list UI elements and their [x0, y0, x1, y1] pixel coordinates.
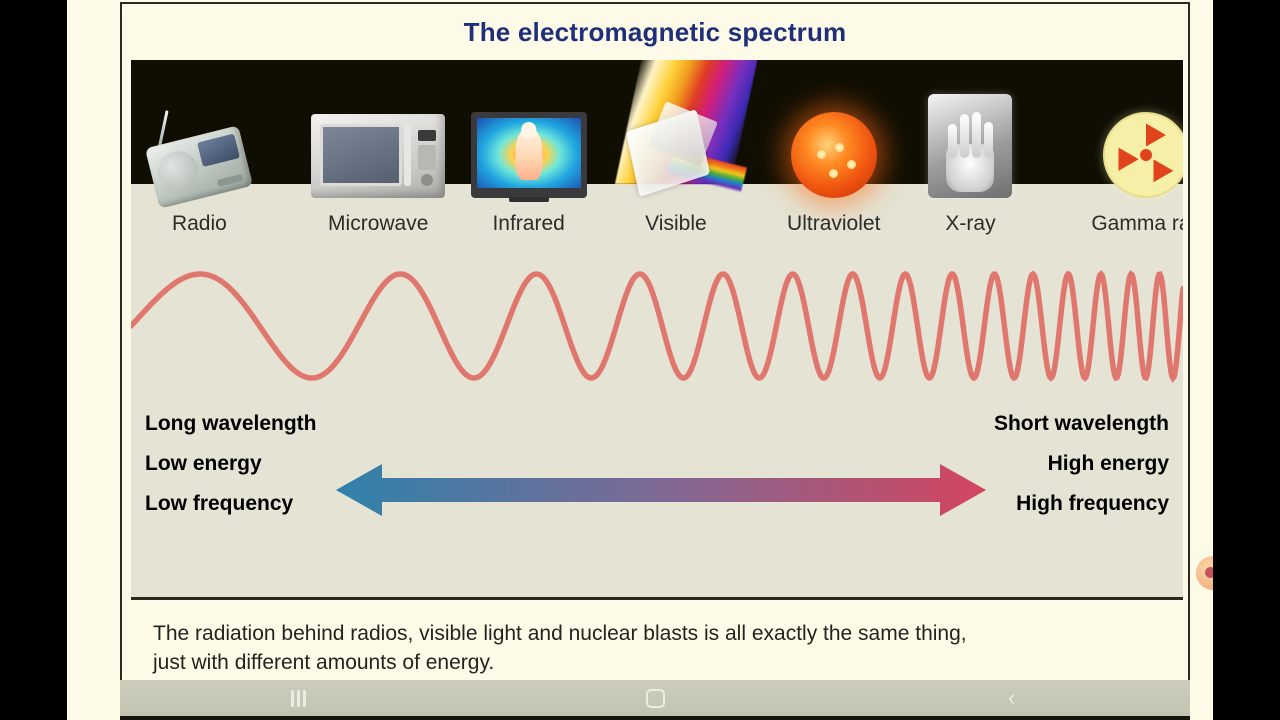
- thermal-camera-icon: [471, 112, 587, 198]
- annotation-low-frequency: Low frequency: [145, 492, 293, 516]
- wavelength-energy-arrow: [336, 460, 986, 520]
- slide-frame: The electromagnetic spectrum: [120, 2, 1190, 714]
- band-label-ultraviolet: Ultraviolet: [787, 212, 880, 236]
- sun-icon: [791, 112, 877, 198]
- nav-home-button[interactable]: [477, 680, 834, 716]
- xray-hand-icon: [928, 94, 1012, 198]
- band-label-visible: Visible: [645, 212, 706, 236]
- annotation-low-energy: Low energy: [145, 452, 262, 476]
- back-icon: ‹: [1008, 687, 1015, 709]
- source-icon-row: [131, 60, 1183, 210]
- page-title: The electromagnetic spectrum: [464, 17, 847, 48]
- annotation-high-energy: High energy: [1048, 452, 1169, 476]
- annotation-high-frequency: High frequency: [1016, 492, 1169, 516]
- band-label-microwave: Microwave: [328, 212, 428, 236]
- band-label-xray: X-ray: [945, 212, 995, 236]
- caption-block: The radiation behind radios, visible lig…: [131, 604, 1183, 680]
- wavelength-wave-graphic: [131, 256, 1183, 396]
- band-label-row: Radio Microwave Infrared Visible Ultravi…: [131, 212, 1183, 252]
- radiation-icon: [1103, 112, 1183, 198]
- annotation-short-wavelength: Short wavelength: [994, 412, 1169, 436]
- nav-back-button[interactable]: ‹: [833, 680, 1190, 716]
- spectrum-diagram: Radio Microwave Infrared Visible Ultravi…: [131, 60, 1183, 600]
- caption-line-1: The radiation behind radios, visible lig…: [153, 620, 1161, 649]
- home-icon: [646, 689, 665, 708]
- recents-icon: [291, 690, 306, 707]
- radio-icon: [151, 136, 247, 198]
- wave-svg: [131, 256, 1183, 396]
- annotation-long-wavelength: Long wavelength: [145, 412, 317, 436]
- band-label-gamma-ray: Gamma ray: [1091, 212, 1183, 236]
- band-label-infrared: Infrared: [492, 212, 564, 236]
- letterbox-right: [1213, 0, 1280, 720]
- prism-icon: [617, 102, 735, 198]
- letterbox-left: [0, 0, 67, 720]
- band-label-radio: Radio: [172, 212, 227, 236]
- caption-line-2: just with different amounts of energy.: [153, 649, 1161, 678]
- nav-recents-button[interactable]: [120, 680, 477, 716]
- microwave-icon: [311, 114, 445, 198]
- screenshot-root: The electromagnetic spectrum: [0, 0, 1280, 720]
- title-bar: The electromagnetic spectrum: [122, 4, 1188, 60]
- android-navigation-bar: ‹: [120, 680, 1190, 720]
